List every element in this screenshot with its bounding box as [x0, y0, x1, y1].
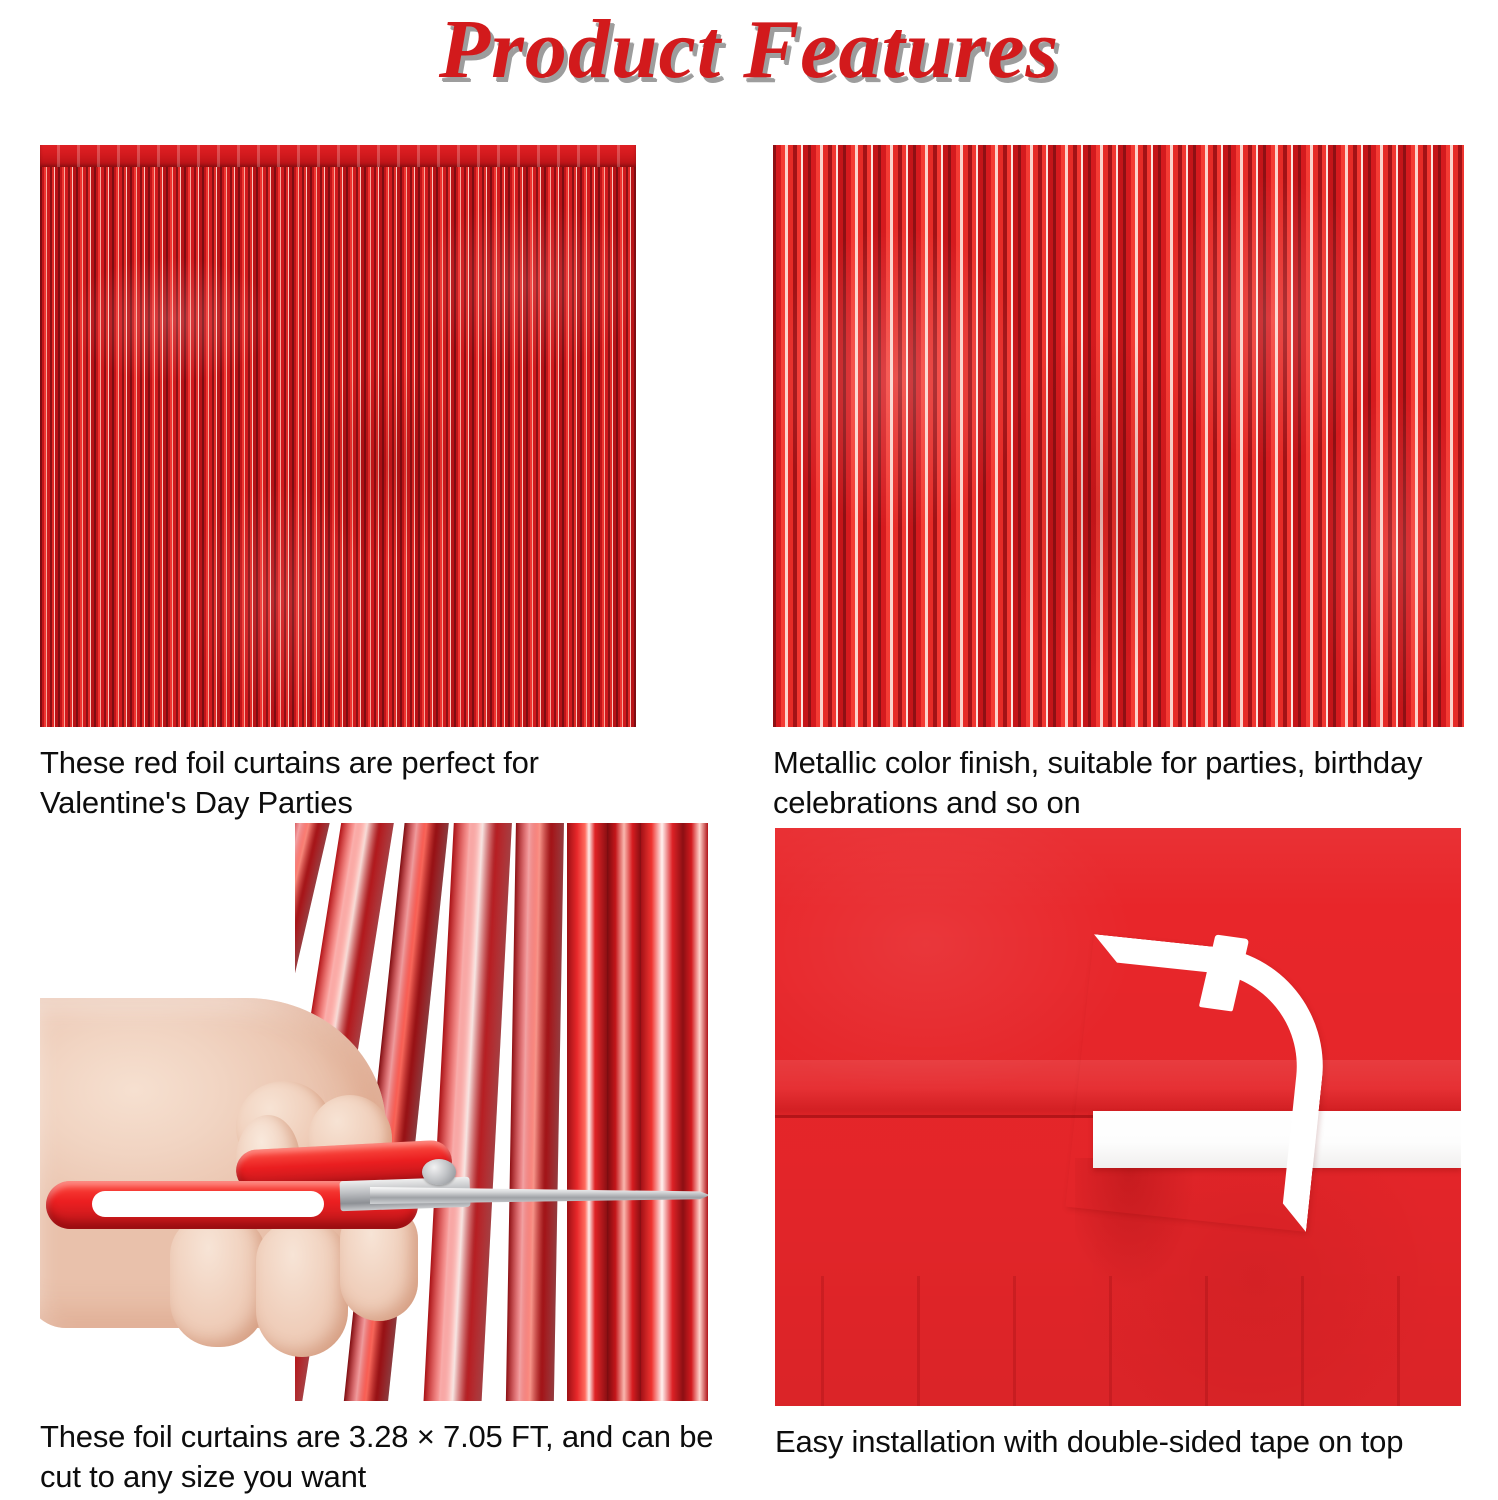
foil-fringe-closeup-icon [773, 145, 1464, 727]
cutting-scene [40, 823, 708, 1401]
finger-shape [256, 1221, 348, 1357]
feature-caption-4: Easy installation with double-sided tape… [775, 1422, 1495, 1462]
feature-cell-1: These red foil curtains are perfect for … [40, 145, 636, 727]
feature-cell-4: Easy installation with double-sided tape… [775, 828, 1461, 1406]
features-grid: These red foil curtains are perfect for … [0, 130, 1498, 1500]
scissors-handle-hole [92, 1191, 324, 1217]
foil-fringe-cuts [775, 1276, 1461, 1406]
feature-cell-3: These foil curtains are 3.28 × 7.05 FT, … [40, 823, 708, 1401]
feature-image-1 [40, 145, 636, 727]
feature-cell-2: Metallic color finish, suitable for part… [773, 145, 1464, 727]
feature-image-3 [40, 823, 708, 1401]
red-foil-surface [775, 828, 1461, 1406]
page-title: Product Features [0, 6, 1498, 94]
scissors-pivot-screw-icon [422, 1159, 456, 1185]
feature-caption-2: Metallic color finish, suitable for part… [773, 743, 1473, 822]
feature-caption-1: These red foil curtains are perfect for … [40, 743, 650, 822]
foil-fringe-texture-icon [40, 145, 636, 727]
feature-image-2 [773, 145, 1464, 727]
curtain-header-strip [40, 145, 636, 167]
feature-caption-3: These foil curtains are 3.28 × 7.05 FT, … [40, 1417, 720, 1496]
tape-peel-curl [1065, 934, 1334, 1232]
feature-image-4 [775, 828, 1461, 1406]
finger-shape [170, 1215, 266, 1347]
